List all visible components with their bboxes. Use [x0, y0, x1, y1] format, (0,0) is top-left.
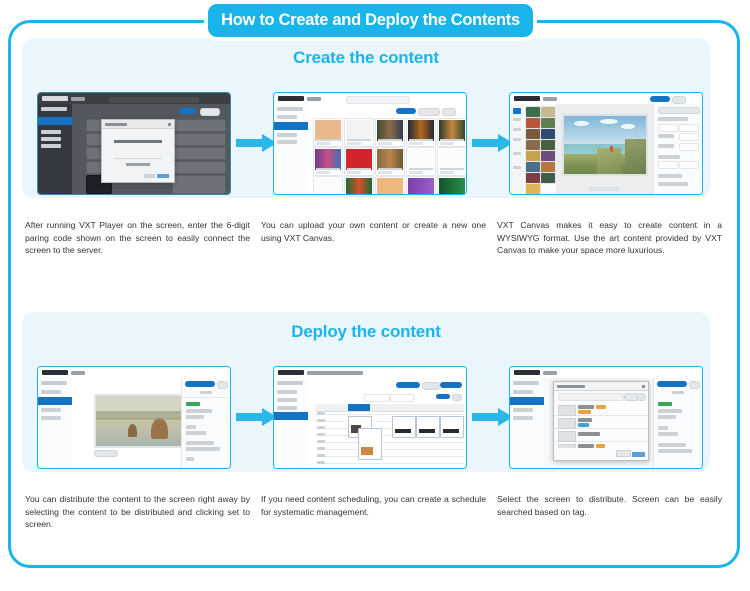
sidebar-item-selected[interactable]	[510, 397, 544, 405]
tool-rail[interactable]	[510, 104, 525, 194]
screen-tag	[578, 410, 591, 414]
content-preview[interactable]	[94, 394, 186, 448]
set-to-screen-button[interactable]	[657, 381, 687, 387]
sidebar-item-selected[interactable]	[274, 412, 308, 420]
detail-label	[186, 409, 212, 413]
time-label	[317, 412, 325, 415]
screenshot-vxt-player-pairing-code-dialog	[37, 92, 231, 195]
time-label	[317, 433, 325, 436]
window-controls[interactable]	[676, 371, 698, 375]
main-content	[308, 104, 466, 194]
pairing-code-dialog	[101, 119, 175, 183]
detail-value	[658, 415, 676, 419]
app-logo	[42, 370, 68, 375]
content-card[interactable]	[437, 176, 467, 195]
sidebar-item[interactable]	[277, 390, 297, 394]
cancel-button[interactable]	[144, 174, 155, 178]
property-label	[658, 144, 674, 148]
preview-button[interactable]	[672, 96, 686, 104]
close-icon[interactable]	[168, 123, 171, 126]
property-label	[658, 174, 682, 178]
content-card[interactable]	[375, 176, 405, 195]
content-card[interactable]	[406, 176, 436, 195]
close-icon[interactable]	[642, 385, 645, 388]
document-title	[543, 97, 557, 101]
filter-button[interactable]	[624, 393, 638, 401]
screenshot-vxt-content-detail-distribute	[37, 366, 231, 469]
asset-thumb[interactable]	[540, 172, 556, 184]
breadcrumb	[307, 97, 321, 101]
status-badge	[658, 402, 672, 406]
detail-value	[186, 447, 220, 451]
sidebar[interactable]	[510, 378, 545, 468]
content-card[interactable]	[375, 147, 405, 176]
breadcrumb	[307, 371, 363, 375]
properties-panel[interactable]	[653, 104, 702, 194]
content-card[interactable]	[344, 176, 374, 195]
sidebar[interactable]	[274, 104, 309, 194]
detail-label	[658, 426, 668, 430]
sidebar-item[interactable]	[277, 115, 297, 119]
sidebar-item[interactable]	[41, 416, 61, 420]
secondary-button[interactable]	[200, 108, 220, 116]
date-range-select[interactable]	[364, 394, 390, 402]
step-caption: If you need content scheduling, you can …	[261, 493, 486, 518]
property-input[interactable]	[679, 161, 699, 169]
secondary-button[interactable]	[422, 382, 440, 390]
asset-panel[interactable]	[524, 104, 557, 194]
sidebar-item[interactable]	[277, 133, 297, 137]
detail-label	[658, 443, 686, 447]
window-controls[interactable]	[204, 97, 226, 101]
save-button[interactable]	[440, 382, 462, 388]
arrow-right-icon	[236, 408, 278, 426]
list-item[interactable]	[554, 402, 648, 416]
property-label	[658, 117, 688, 121]
screen-name	[578, 418, 592, 422]
time-label	[317, 454, 325, 457]
detail-value	[186, 457, 194, 461]
detail-value	[658, 432, 678, 436]
toolbar-tools[interactable]	[592, 96, 632, 102]
sidebar[interactable]	[38, 104, 73, 194]
detail-row	[172, 161, 226, 174]
primary-button[interactable]	[180, 108, 196, 114]
window-controls[interactable]	[440, 371, 462, 375]
canvas-area[interactable]	[556, 104, 654, 194]
property-input[interactable]	[658, 124, 678, 132]
step-caption: Select the screen to distribute. Screen …	[497, 493, 722, 518]
app-logo	[278, 96, 304, 101]
step-caption: You can upload your own content or creat…	[261, 219, 486, 244]
time-label	[317, 440, 325, 443]
sidebar-item-selected[interactable]	[38, 397, 72, 405]
sidebar-item[interactable]	[513, 408, 533, 412]
sidebar-title	[513, 381, 539, 385]
cancel-button[interactable]	[616, 450, 631, 457]
dialog-message	[114, 140, 162, 143]
sidebar[interactable]	[38, 378, 73, 468]
sidebar-item[interactable]	[41, 408, 61, 412]
view-toggle-day[interactable]	[452, 394, 462, 401]
breadcrumb	[71, 371, 85, 375]
dialog-header	[102, 120, 174, 129]
detail-value	[186, 415, 204, 419]
detail-label	[658, 409, 682, 413]
schedule-event[interactable]	[416, 416, 440, 438]
app-logo	[42, 96, 68, 101]
list-item[interactable]	[554, 428, 648, 442]
sidebar-item[interactable]	[277, 406, 297, 410]
sidebar-title	[41, 381, 67, 385]
canvas-artwork[interactable]	[562, 114, 648, 176]
sort-button[interactable]	[442, 108, 456, 116]
app-subtitle	[71, 97, 85, 101]
screenshot-vxt-canvas-editor	[509, 92, 703, 195]
screen-tag	[578, 423, 589, 427]
screen-thumbnail	[558, 405, 576, 416]
property-input[interactable]	[679, 143, 699, 151]
confirm-button[interactable]	[632, 452, 645, 457]
section-heading-create: Create the content	[22, 38, 710, 68]
detail-row	[172, 119, 226, 132]
save-button[interactable]	[650, 96, 670, 102]
screen-thumbnail	[558, 444, 576, 449]
step-caption: You can distribute the content to the sc…	[25, 493, 250, 531]
schedule-event[interactable]	[358, 428, 382, 460]
list-item[interactable]	[554, 441, 648, 448]
content-card[interactable]	[313, 147, 343, 176]
tool-icon[interactable]	[513, 128, 521, 131]
detail-value	[658, 449, 692, 453]
window-controls[interactable]	[440, 97, 462, 101]
tool-icon-selected[interactable]	[513, 108, 521, 114]
divider	[114, 158, 162, 159]
screen-thumbnail	[558, 431, 576, 442]
detail-row	[172, 133, 226, 146]
content-tag	[94, 450, 118, 457]
time-label	[317, 447, 325, 450]
detail-value	[186, 431, 206, 435]
status-badge	[186, 402, 200, 406]
content-card[interactable]	[406, 147, 436, 176]
content-card[interactable]	[313, 176, 343, 195]
content-card[interactable]	[375, 118, 405, 147]
schedule-event[interactable]	[392, 416, 416, 438]
screen-search-input[interactable]	[558, 393, 624, 401]
tool-icon[interactable]	[513, 138, 521, 141]
time-label	[317, 461, 325, 464]
app-logo	[514, 370, 540, 375]
divider	[182, 397, 230, 398]
tab-card-view[interactable]	[396, 108, 416, 114]
sidebar-title	[41, 107, 67, 111]
section-heading-deploy: Deploy the content	[22, 312, 710, 342]
screen-tag	[596, 444, 605, 448]
arrow-right-icon	[236, 134, 278, 152]
screenshot-vxt-screen-select-dialog	[509, 366, 703, 469]
property-label	[658, 155, 680, 159]
content-card[interactable]	[437, 118, 467, 147]
view-toggle-week[interactable]	[436, 394, 450, 399]
view-toggle[interactable]	[637, 393, 646, 401]
property-input[interactable]	[679, 124, 699, 132]
step-caption: VXT Canvas makes it easy to create conte…	[497, 219, 722, 257]
detail-panel[interactable]	[653, 378, 702, 468]
panel-tab[interactable]	[200, 391, 212, 394]
app-logo	[514, 96, 540, 101]
sidebar-item[interactable]	[41, 144, 61, 148]
step-caption: After running VXT Player on the screen, …	[25, 219, 250, 257]
add-schedule-button[interactable]	[396, 382, 420, 388]
detail-row	[172, 147, 226, 160]
sidebar-title	[277, 381, 303, 385]
arrow-right-icon	[472, 408, 514, 426]
content-card[interactable]	[406, 118, 436, 147]
detail-label	[186, 425, 196, 429]
search-input[interactable]	[346, 96, 410, 104]
panel-tab[interactable]	[658, 107, 700, 114]
dialog-title	[105, 123, 127, 126]
sidebar-title	[277, 107, 303, 111]
screen-name	[578, 432, 600, 436]
more-button[interactable]	[217, 381, 228, 389]
breadcrumb	[543, 371, 557, 375]
schedule-event[interactable]	[440, 416, 464, 438]
property-label	[658, 182, 688, 186]
page-title: How to Create and Deploy the Contents	[208, 4, 533, 37]
detail-label	[186, 441, 214, 445]
tool-icon[interactable]	[513, 166, 521, 169]
content-card[interactable]	[313, 118, 343, 147]
app-logo	[278, 370, 304, 375]
sidebar-item[interactable]	[41, 130, 61, 134]
sidebar-item[interactable]	[277, 140, 297, 144]
sidebar-item[interactable]	[513, 416, 533, 420]
calendar-day-selected[interactable]	[348, 404, 370, 411]
window-controls[interactable]	[204, 371, 226, 375]
dialog-header	[554, 382, 648, 391]
calendar-header	[316, 404, 464, 412]
search-input[interactable]	[108, 96, 200, 104]
screen-select-dialog	[553, 381, 649, 461]
tool-icon[interactable]	[513, 118, 521, 121]
sidebar-item[interactable]	[41, 137, 61, 141]
content-card[interactable]	[344, 118, 374, 147]
confirm-button[interactable]	[157, 174, 169, 178]
property-label	[658, 134, 674, 138]
zoom-control[interactable]	[589, 187, 618, 191]
screenshot-vxt-content-library-grid	[273, 92, 467, 195]
screenshot-vxt-schedule-calendar	[273, 366, 467, 469]
screen-name	[578, 405, 594, 409]
sidebar-item[interactable]	[41, 390, 61, 394]
screen-list[interactable]	[554, 402, 648, 448]
time-label	[317, 426, 325, 429]
screen-thumbnail	[558, 418, 576, 429]
content-card[interactable]	[437, 147, 467, 176]
detail-panel[interactable]	[181, 378, 230, 468]
detail-row	[172, 175, 226, 194]
sidebar-item-selected[interactable]	[274, 122, 308, 130]
asset-thumb[interactable]	[525, 183, 541, 195]
pairing-code-input[interactable]	[126, 163, 150, 166]
view-mode-select[interactable]	[390, 394, 414, 402]
arrow-right-icon	[472, 134, 514, 152]
tool-icon[interactable]	[513, 152, 521, 155]
time-label	[317, 419, 325, 422]
screen-tag	[596, 405, 606, 409]
sidebar-item[interactable]	[277, 398, 297, 402]
dialog-title	[557, 385, 585, 388]
content-card[interactable]	[344, 147, 374, 176]
more-button[interactable]	[689, 381, 700, 389]
sidebar-item[interactable]	[513, 390, 533, 394]
main-content	[308, 378, 466, 468]
sidebar-item-selected[interactable]	[38, 117, 72, 125]
panel-tab[interactable]	[672, 391, 684, 394]
sidebar[interactable]	[274, 378, 309, 468]
property-input[interactable]	[679, 133, 699, 141]
screen-name	[578, 444, 594, 448]
list-item[interactable]	[554, 415, 648, 429]
tab-list-view[interactable]	[418, 108, 440, 116]
main-content	[72, 378, 182, 468]
property-input[interactable]	[658, 161, 678, 169]
set-to-screen-button[interactable]	[185, 381, 215, 387]
